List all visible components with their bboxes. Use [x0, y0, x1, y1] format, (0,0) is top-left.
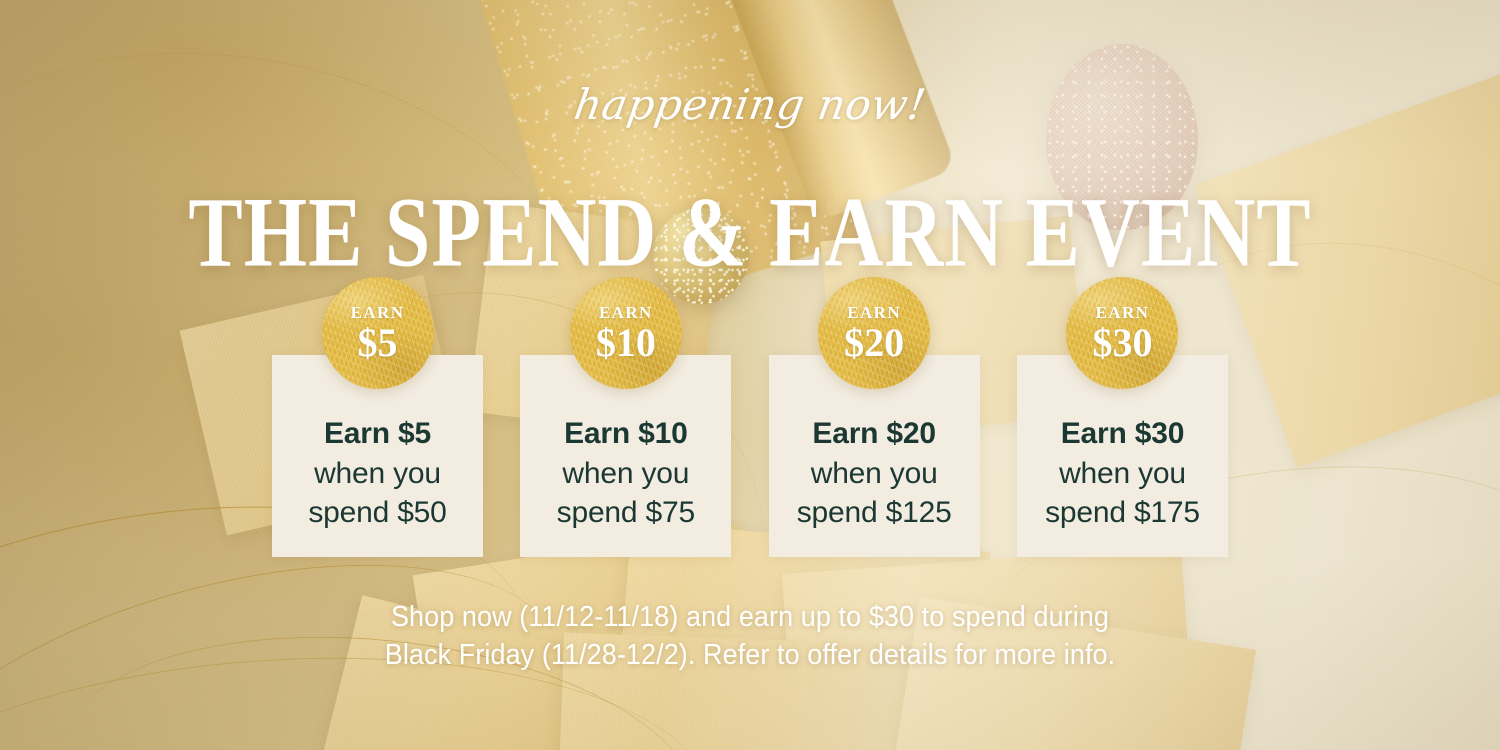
- footnote-line-1: Shop now (11/12-11/18) and earn up to $3…: [53, 598, 1448, 636]
- spend-and-earn-promo-banner: happening now! THE SPEND & EARN EVENT EA…: [0, 0, 1500, 750]
- badge-amount: $10: [596, 323, 656, 363]
- offer-card-line-2: when you: [1059, 454, 1186, 494]
- footnote-line-2: Black Friday (11/28-12/2). Refer to offe…: [53, 636, 1448, 674]
- offer-card-headline: Earn $20: [812, 414, 935, 454]
- offer-card-headline: Earn $5: [324, 414, 431, 454]
- tier-list: EARN $5 Earn $5 when you spend $50 EARN …: [272, 277, 1228, 557]
- badge-earn-label: EARN: [599, 304, 653, 321]
- earn-badge: EARN $10: [570, 277, 682, 389]
- offer-details-footnote: Shop now (11/12-11/18) and earn up to $3…: [53, 598, 1448, 675]
- offer-card-line-3: spend $75: [557, 493, 695, 533]
- offer-card-line-2: when you: [314, 454, 441, 494]
- badge-amount: $20: [844, 323, 904, 363]
- offer-card-headline: Earn $10: [564, 414, 687, 454]
- tier-item[interactable]: EARN $30 Earn $30 when you spend $175: [1017, 277, 1228, 557]
- badge-earn-label: EARN: [847, 304, 901, 321]
- offer-card-line-2: when you: [811, 454, 938, 494]
- earn-badge: EARN $5: [322, 277, 434, 389]
- badge-earn-label: EARN: [1096, 304, 1150, 321]
- eyebrow-script-text: happening now!: [0, 84, 1500, 126]
- page-title: THE SPEND & EARN EVENT: [0, 184, 1500, 283]
- tier-item[interactable]: EARN $10 Earn $10 when you spend $75: [520, 277, 731, 557]
- offer-card-line-3: spend $50: [308, 493, 446, 533]
- tier-item[interactable]: EARN $20 Earn $20 when you spend $125: [769, 277, 980, 557]
- offer-card-line-3: spend $175: [1045, 493, 1200, 533]
- earn-badge: EARN $20: [818, 277, 930, 389]
- badge-amount: $5: [358, 323, 398, 363]
- badge-earn-label: EARN: [351, 304, 405, 321]
- offer-card-headline: Earn $30: [1061, 414, 1184, 454]
- badge-amount: $30: [1092, 323, 1152, 363]
- tier-item[interactable]: EARN $5 Earn $5 when you spend $50: [272, 277, 483, 557]
- offer-card-line-3: spend $125: [797, 493, 952, 533]
- offer-card-line-2: when you: [562, 454, 689, 494]
- earn-badge: EARN $30: [1066, 277, 1178, 389]
